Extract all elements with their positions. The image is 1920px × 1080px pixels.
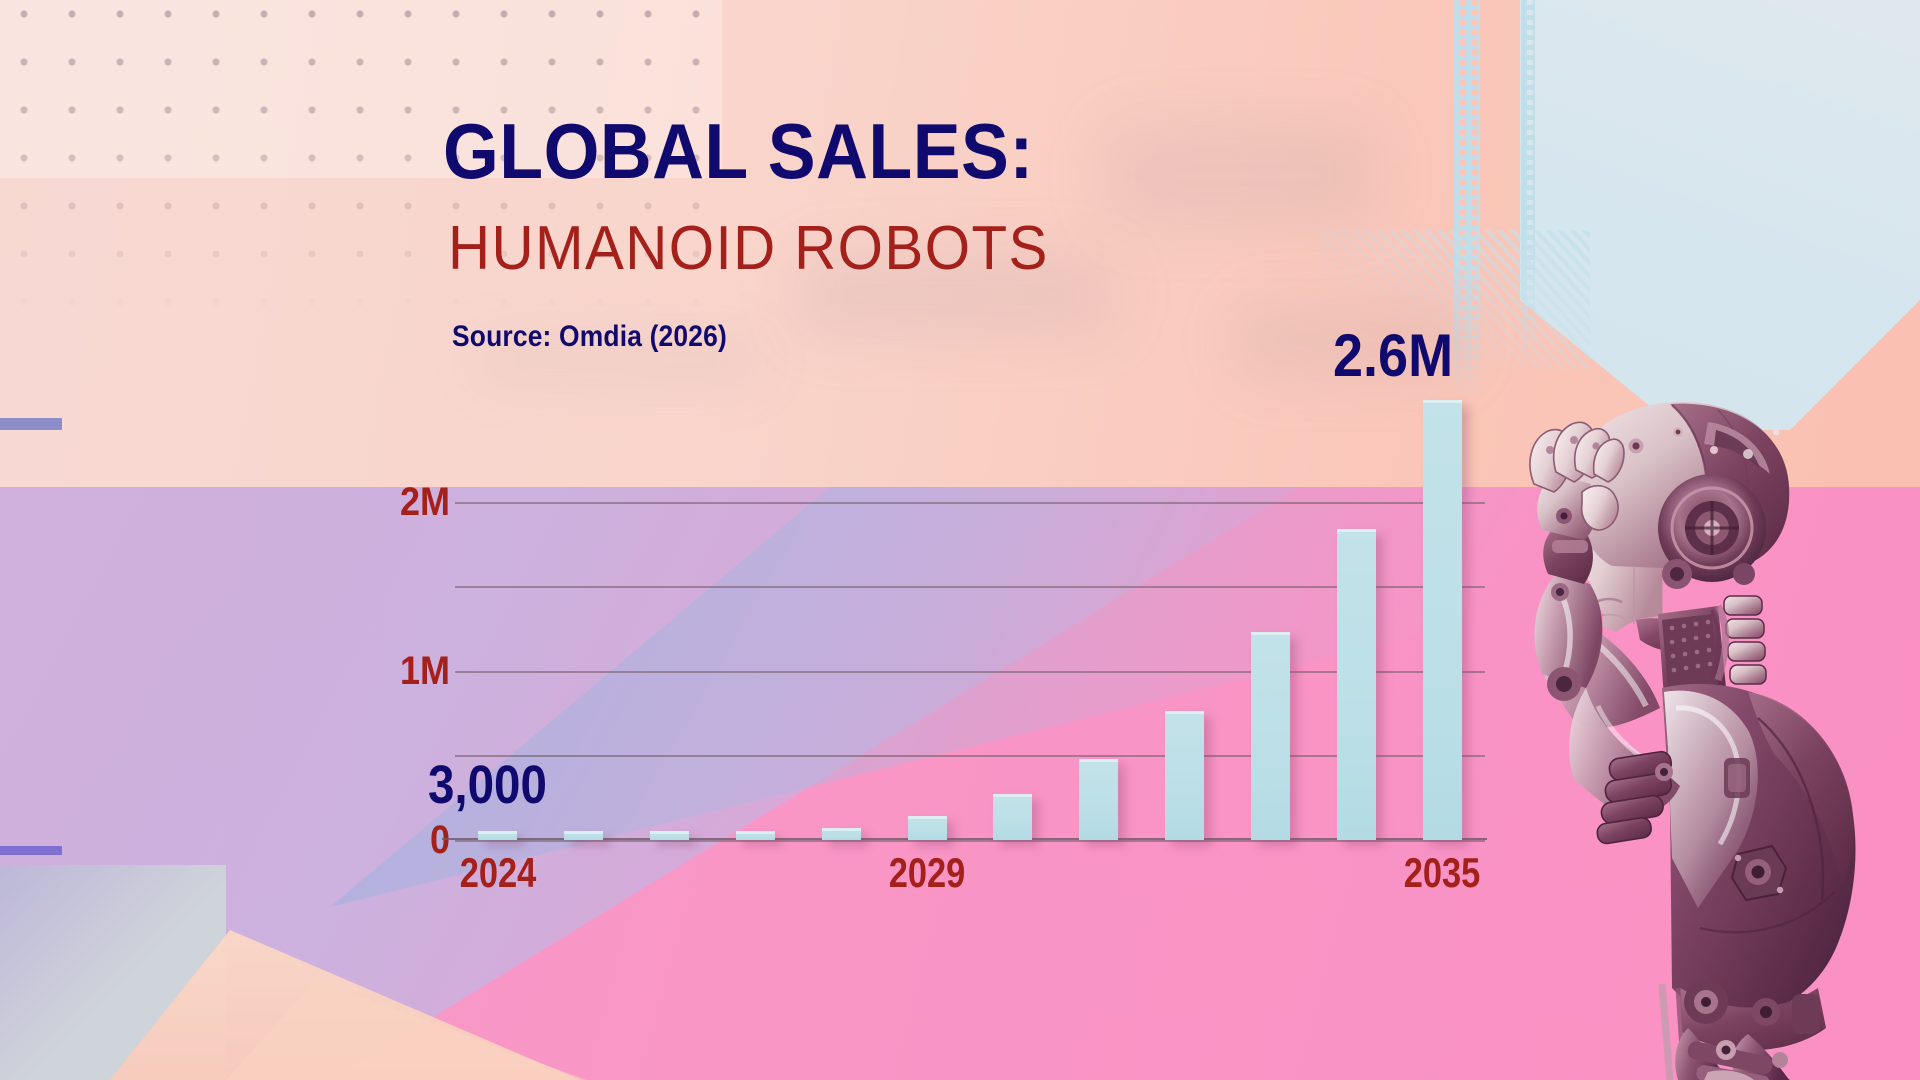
y-axis-tick-label: 2M (342, 482, 450, 522)
bar (478, 831, 517, 840)
bar (1423, 400, 1462, 840)
callout-first-value: 3,000 (428, 758, 547, 812)
bar (908, 816, 947, 840)
x-axis-tick-label: 2029 (861, 852, 992, 894)
x-axis-tick-label: 2035 (1376, 852, 1507, 894)
y-axis-tick-label: 1M (342, 651, 450, 691)
bar (993, 794, 1032, 840)
robot-torso (1662, 684, 1856, 1019)
gridline (455, 840, 1485, 842)
callout-last-value: 2.6M (1333, 326, 1453, 386)
x-axis-tick-label: 2024 (432, 852, 563, 894)
bar (564, 831, 603, 840)
robot-neck (1658, 596, 1766, 698)
bar (1251, 632, 1290, 840)
bar (1079, 759, 1118, 840)
x-axis-labels: 202420292035 (455, 852, 1485, 912)
bar (650, 831, 689, 840)
bar (822, 828, 861, 840)
robot-hand (1530, 422, 1624, 540)
bar-series (455, 400, 1485, 840)
humanoid-robot-illustration (1512, 388, 1920, 1080)
bar (736, 831, 775, 840)
bar (1165, 711, 1204, 840)
bar (1337, 529, 1376, 840)
